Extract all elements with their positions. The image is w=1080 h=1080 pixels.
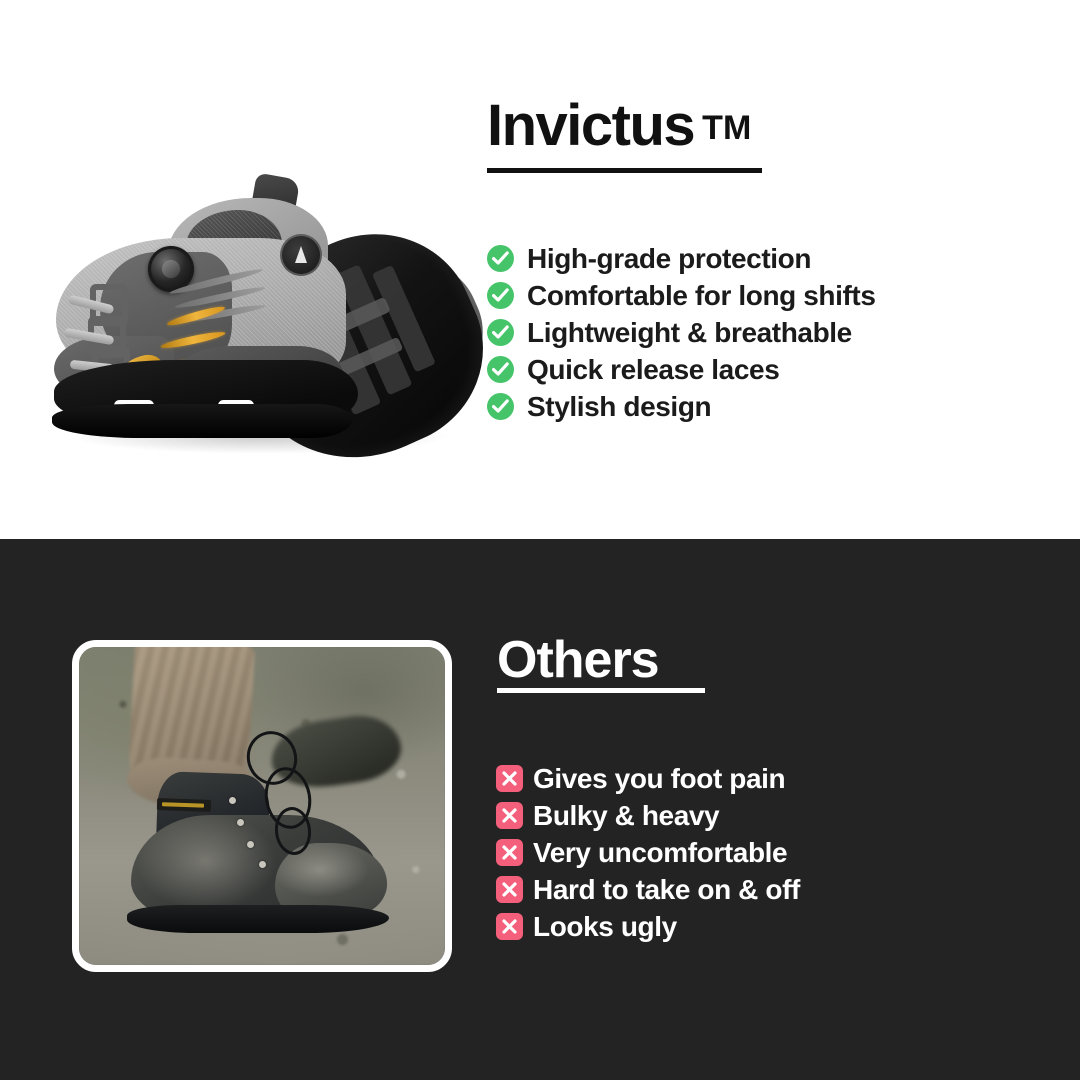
con-label: Hard to take on & off: [533, 874, 800, 906]
list-item: Quick release laces: [487, 351, 876, 388]
cons-list: Gives you foot pain Bulky & heavy Very u…: [496, 760, 800, 945]
check-circle-icon: [487, 282, 514, 309]
con-label: Gives you foot pain: [533, 763, 785, 795]
check-circle-icon: [487, 393, 514, 420]
cross-square-icon: [496, 802, 523, 829]
list-item: Stylish design: [487, 388, 876, 425]
brand-name: Invictus: [487, 93, 694, 158]
list-item: Lightweight & breathable: [487, 314, 876, 351]
others-underline: [497, 688, 705, 693]
pro-label: High-grade protection: [527, 243, 811, 275]
cross-square-icon: [496, 913, 523, 940]
check-circle-icon: [487, 245, 514, 272]
pros-list: High-grade protection Comfortable for lo…: [487, 240, 876, 425]
boot-sole: [127, 905, 389, 933]
shoe-illustration: [30, 120, 480, 490]
boot-eyelet: [237, 819, 244, 826]
boot-eyelet: [229, 797, 236, 804]
section-title: Others: [497, 634, 659, 686]
comparison-image: [72, 640, 452, 972]
con-label: Looks ugly: [533, 911, 677, 943]
product-image: [30, 120, 480, 490]
pro-label: Lightweight & breathable: [527, 317, 852, 349]
pro-label: Stylish design: [527, 391, 711, 423]
boot-eyelet: [259, 861, 266, 868]
list-item: Looks ugly: [496, 908, 800, 945]
cross-square-icon: [496, 765, 523, 792]
page-title: InvictusTM: [487, 97, 1047, 155]
list-item: Hard to take on & off: [496, 871, 800, 908]
work-boot-illustration: [79, 647, 445, 965]
con-label: Bulky & heavy: [533, 800, 719, 832]
pro-label: Quick release laces: [527, 354, 779, 386]
boot-eyelet: [247, 841, 254, 848]
product-panel: InvictusTM High-grade protection Comfort…: [0, 0, 1080, 539]
shoe-outsole: [52, 404, 352, 438]
pro-label: Comfortable for long shifts: [527, 280, 876, 312]
comparison-infographic: InvictusTM High-grade protection Comfort…: [0, 0, 1080, 1080]
check-circle-icon: [487, 319, 514, 346]
trademark-symbol: TM: [702, 109, 751, 147]
list-item: Comfortable for long shifts: [487, 277, 876, 314]
brand-underline: [487, 168, 762, 173]
brand-logo-badge: [280, 234, 322, 276]
con-label: Very uncomfortable: [533, 837, 787, 869]
list-item: Gives you foot pain: [496, 760, 800, 797]
others-title-block: Others: [497, 634, 659, 686]
shoe-side-view: [48, 160, 378, 450]
cross-square-icon: [496, 876, 523, 903]
boot-brand-tag: [157, 798, 211, 812]
list-item: High-grade protection: [487, 240, 876, 277]
cross-square-icon: [496, 839, 523, 866]
list-item: Bulky & heavy: [496, 797, 800, 834]
check-circle-icon: [487, 356, 514, 383]
list-item: Very uncomfortable: [496, 834, 800, 871]
brand-title-block: InvictusTM: [487, 97, 1047, 155]
